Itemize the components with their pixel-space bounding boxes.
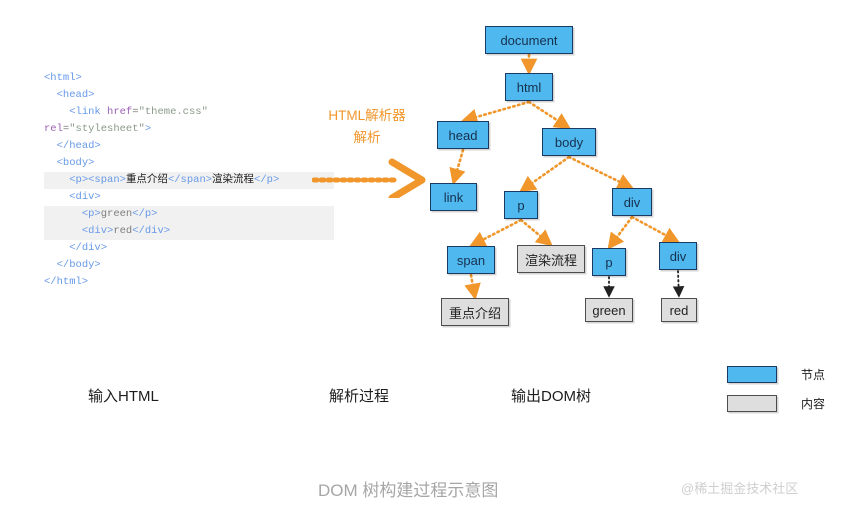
tree-node-label: document [500, 33, 557, 48]
diagram-canvas: <html> <head> <link href="theme.css"rel=… [0, 0, 860, 519]
stage-label-parse: 解析过程 [329, 385, 389, 406]
legend-label-content: 内容 [801, 395, 825, 412]
tree-edge-p1-to-span [476, 220, 521, 243]
tree-node-label: red [670, 303, 689, 318]
tree-node-div2: div [659, 242, 697, 270]
tree-node-document: document [485, 26, 573, 54]
legend-swatch-node [727, 366, 777, 383]
tree-edge-div2-to-text4 [678, 271, 679, 292]
tree-node-head: head [437, 121, 489, 149]
tree-node-label: link [444, 190, 464, 205]
tree-node-text3: green [585, 298, 633, 322]
tree-edge-body-to-p1 [526, 157, 569, 187]
tree-node-label: p [517, 198, 524, 213]
tree-node-label: body [555, 135, 583, 150]
tree-node-label: green [592, 303, 625, 318]
dom-tree: documenthtmlheadbodylinkpdivspan渲染流程pdiv… [0, 0, 860, 360]
tree-node-text1: 渲染流程 [517, 245, 585, 273]
tree-node-label: div [670, 249, 687, 264]
tree-node-label: 渲染流程 [525, 250, 577, 269]
tree-node-div1: div [612, 188, 652, 216]
tree-node-span: span [447, 246, 495, 274]
tree-node-body: body [542, 128, 596, 156]
legend: 节点内容 [727, 366, 825, 424]
diagram-caption: DOM 树构建过程示意图 [318, 476, 498, 501]
tree-edge-html-to-body [529, 102, 564, 125]
tree-node-label: span [457, 253, 485, 268]
watermark: @稀土掘金技术社区 [681, 478, 798, 497]
tree-node-label: p [605, 255, 612, 270]
tree-node-label: head [449, 128, 478, 143]
tree-node-html: html [505, 73, 553, 101]
tree-node-label: div [624, 195, 641, 210]
tree-edge-p1-to-text1 [521, 220, 546, 241]
tree-edge-span-to-text2 [471, 275, 474, 292]
stage-label-output: 输出DOM树 [511, 385, 591, 406]
tree-edge-html-to-head [469, 102, 529, 119]
tree-edge-div1-to-p2 [613, 217, 632, 243]
legend-swatch-content [727, 395, 777, 412]
tree-node-link: link [430, 183, 477, 211]
tree-node-label: html [517, 80, 542, 95]
tree-node-p1: p [504, 191, 538, 219]
stage-label-input: 输入HTML [88, 385, 159, 406]
tree-edge-div1-to-div2 [632, 217, 673, 239]
legend-row-content: 内容 [727, 395, 825, 412]
tree-edge-body-to-div1 [569, 157, 627, 185]
tree-node-p2: p [592, 248, 626, 276]
tree-edge-head-to-link [455, 150, 463, 177]
tree-node-text2: 重点介绍 [441, 298, 509, 326]
tree-node-text4: red [661, 298, 697, 322]
legend-label-node: 节点 [801, 366, 825, 383]
tree-node-label: 重点介绍 [449, 303, 501, 322]
legend-row-node: 节点 [727, 366, 825, 383]
dom-tree-edges [0, 0, 860, 360]
